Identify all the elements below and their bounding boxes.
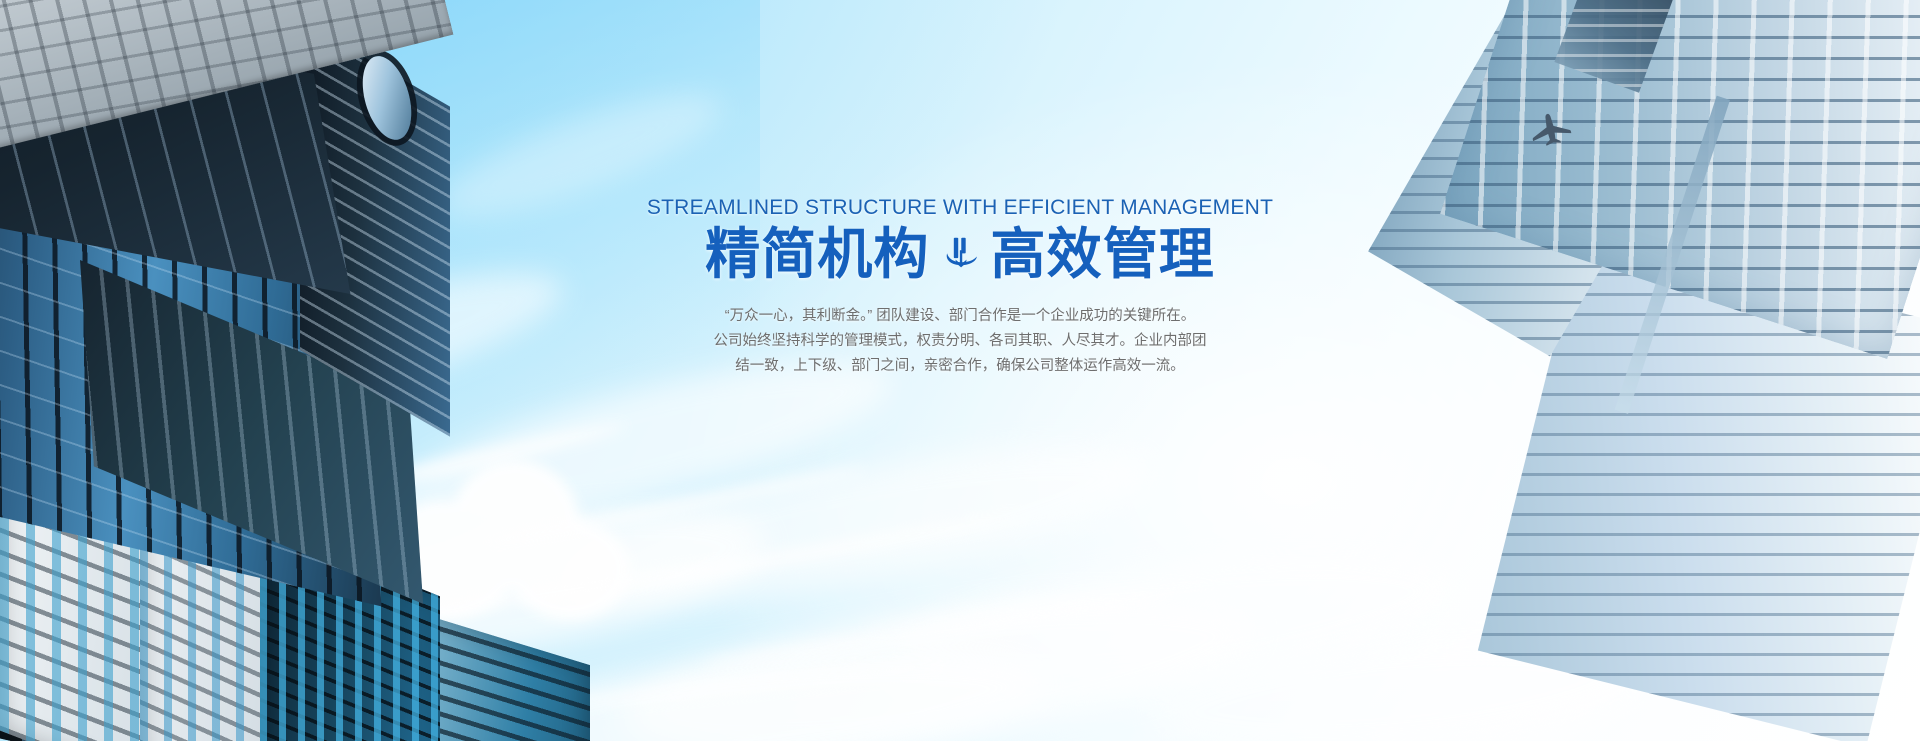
hero-copy-block: STREAMLINED STRUCTURE WITH EFFICIENT MAN… [0, 196, 1920, 379]
hero-headline: 精简机构 高效管理 [705, 223, 1215, 287]
headline-left-phrase: 精简机构 [705, 223, 929, 287]
headline-right-phrase: 高效管理 [991, 223, 1215, 287]
body-line: “万众一心，其利断金。” 团队建设、部门合作是一个企业成功的关键所在。 [714, 304, 1207, 329]
hero-body-copy: “万众一心，其利断金。” 团队建设、部门合作是一个企业成功的关键所在。 公司始终… [714, 304, 1207, 379]
hero-eyebrow-english: STREAMLINED STRUCTURE WITH EFFICIENT MAN… [647, 196, 1273, 219]
body-line: 结一致，上下级、部门之间，亲密合作，确保公司整体运作高效一流。 [714, 354, 1207, 379]
company-mark-icon [936, 236, 985, 274]
body-line: 公司始终坚持科学的管理模式，权责分明、各司其职、人尽其才。企业内部团 [714, 329, 1207, 354]
hero-banner: STREAMLINED STRUCTURE WITH EFFICIENT MAN… [0, 0, 1920, 741]
